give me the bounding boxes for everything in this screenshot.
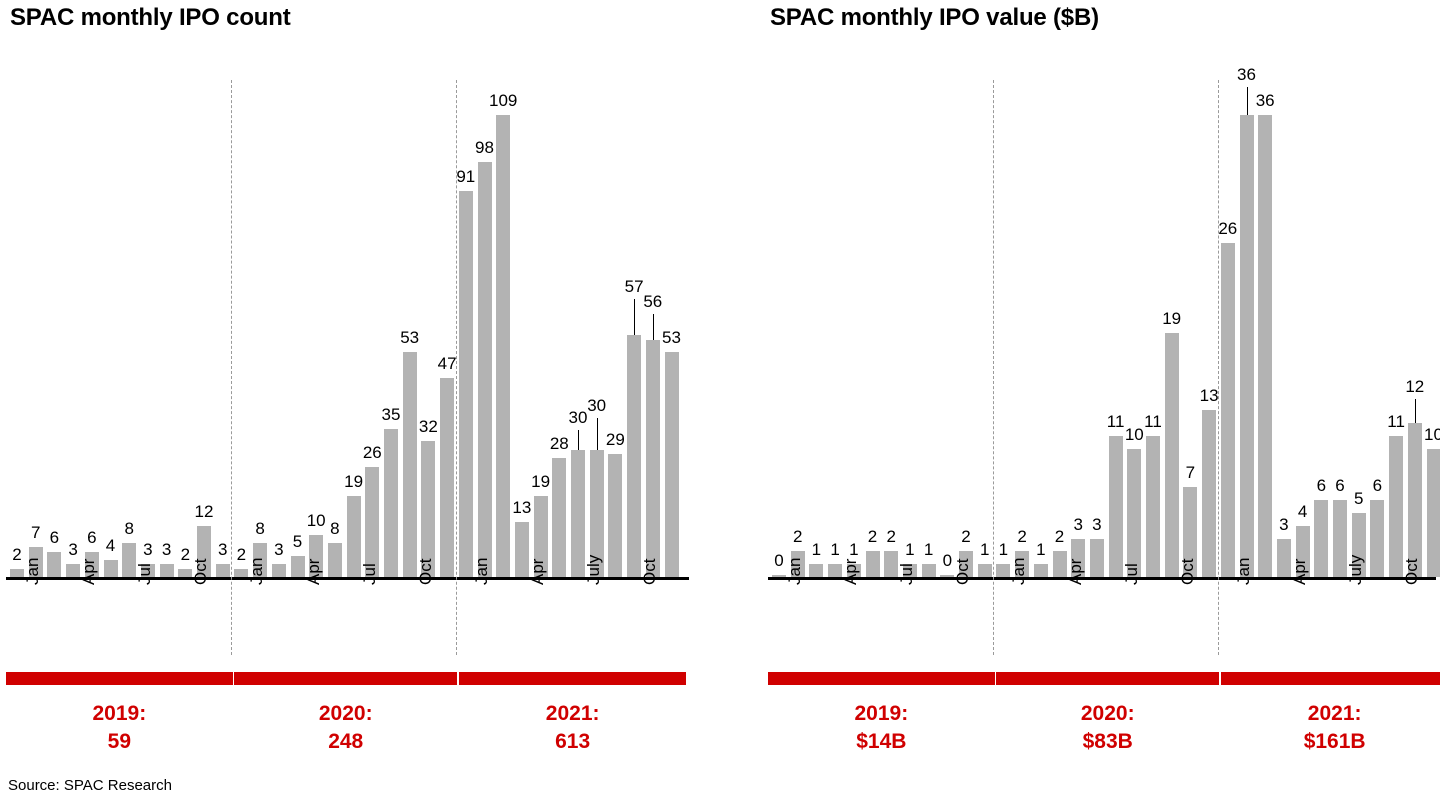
bar xyxy=(1109,436,1123,577)
bar-value-label: 36 xyxy=(1230,65,1264,85)
bar-value-label: 56 xyxy=(636,292,670,312)
bar xyxy=(421,441,435,577)
bar xyxy=(1314,500,1328,577)
bar xyxy=(571,450,585,577)
year-range-bar xyxy=(6,672,233,685)
x-tick-label: Oct xyxy=(416,559,436,585)
bar xyxy=(1427,449,1440,577)
bar xyxy=(1221,243,1235,577)
label-leader-line xyxy=(578,430,579,450)
bar xyxy=(978,564,992,577)
year-summary-label: 2019: xyxy=(768,700,995,728)
x-tick-label: July xyxy=(1346,555,1366,585)
x-tick-label: Apr xyxy=(1066,559,1086,585)
year-summary-label: 2020: xyxy=(234,700,457,728)
bar xyxy=(1408,423,1422,577)
bar xyxy=(608,454,622,577)
x-tick-label: Jan xyxy=(23,558,43,585)
bar xyxy=(1333,500,1347,577)
bar xyxy=(384,429,398,577)
bar xyxy=(1389,436,1403,577)
x-tick-label: Jul xyxy=(897,563,917,585)
x-tick-label: Jan xyxy=(472,558,492,585)
bar xyxy=(459,191,473,577)
x-tick-label: Oct xyxy=(640,559,660,585)
bar xyxy=(1146,436,1160,577)
x-tick-label: Jul xyxy=(1122,563,1142,585)
bar-value-label: 12 xyxy=(187,502,221,522)
year-separator xyxy=(993,80,994,655)
source-note: Source: SPAC Research xyxy=(8,777,172,794)
bar xyxy=(809,564,823,577)
year-separator xyxy=(1218,80,1219,655)
year-range-bar xyxy=(996,672,1219,685)
x-tick-label: Apr xyxy=(1290,559,1310,585)
year-summary-label: 2019: xyxy=(6,700,233,728)
year-summary: 2021:$161B xyxy=(1221,700,1440,757)
year-summary-label: 2020: xyxy=(996,700,1219,728)
bar xyxy=(1165,333,1179,577)
x-tick-label: Apr xyxy=(528,559,548,585)
year-summary-total: 613 xyxy=(459,728,687,756)
x-tick-label: July xyxy=(584,555,604,585)
x-tick-label: Apr xyxy=(841,559,861,585)
bar xyxy=(328,543,342,577)
year-summary: 2019:59 xyxy=(6,700,233,757)
x-axis-line xyxy=(768,577,1436,580)
year-summary: 2021:613 xyxy=(459,700,687,757)
bar xyxy=(216,564,230,577)
year-summary-total: 59 xyxy=(6,728,233,756)
bar xyxy=(1127,449,1141,577)
bar-value-label: 12 xyxy=(1398,377,1432,397)
bar xyxy=(828,564,842,577)
bar xyxy=(160,564,174,577)
year-range-bar xyxy=(234,672,457,685)
bar-value-label: 8 xyxy=(243,519,277,539)
year-summary: 2020:248 xyxy=(234,700,457,757)
bar-value-label: 109 xyxy=(486,91,520,111)
bar-value-label: 19 xyxy=(1155,309,1189,329)
bar xyxy=(365,467,379,577)
year-summary-label: 2021: xyxy=(459,700,687,728)
bar-value-label: 53 xyxy=(393,328,427,348)
x-tick-label: Jan xyxy=(785,558,805,585)
year-summary-total: 248 xyxy=(234,728,457,756)
bar xyxy=(291,556,305,577)
year-summary-total: $161B xyxy=(1221,728,1440,756)
chart-panel-value: SPAC monthly IPO value ($B) 021112211021… xyxy=(760,0,1440,810)
bar-value-label: 36 xyxy=(1248,91,1282,111)
year-summary-total: $14B xyxy=(768,728,995,756)
bar xyxy=(478,162,492,577)
plot-area-value: 0211122110211212331110111971326363634665… xyxy=(760,0,1440,810)
x-tick-label: Jul xyxy=(360,563,380,585)
bar xyxy=(104,560,118,577)
year-summary-total: $83B xyxy=(996,728,1219,756)
bar-value-label: 8 xyxy=(112,519,146,539)
plot-area-count: 2763648332123283510819263553324791981091… xyxy=(0,0,720,810)
year-summary-label: 2021: xyxy=(1221,700,1440,728)
bar xyxy=(552,458,566,577)
x-tick-label: Oct xyxy=(1402,559,1422,585)
bar xyxy=(347,496,361,577)
chart-panel-count: SPAC monthly IPO count 27636483321232835… xyxy=(0,0,720,810)
bar xyxy=(272,564,286,577)
year-range-bar xyxy=(768,672,995,685)
x-tick-label: Apr xyxy=(79,559,99,585)
x-tick-label: Oct xyxy=(1178,559,1198,585)
year-summary: 2019:$14B xyxy=(768,700,995,757)
bar xyxy=(440,378,454,577)
year-separator xyxy=(456,80,457,655)
year-separator xyxy=(231,80,232,655)
bar xyxy=(1090,539,1104,578)
year-range-bar xyxy=(459,672,687,685)
bar-value-label: 10 xyxy=(1417,425,1440,445)
bar xyxy=(866,551,880,577)
bar-value-label: 53 xyxy=(655,328,689,348)
bar xyxy=(1258,115,1272,577)
bar xyxy=(1370,500,1384,577)
bar xyxy=(1053,551,1067,577)
x-tick-label: Jan xyxy=(1234,558,1254,585)
x-tick-label: Oct xyxy=(953,559,973,585)
bar xyxy=(403,352,417,577)
bar xyxy=(1240,115,1254,577)
year-range-bar xyxy=(1221,672,1440,685)
x-tick-label: Apr xyxy=(304,559,324,585)
bar xyxy=(10,569,24,577)
bar xyxy=(1277,539,1291,578)
label-leader-line xyxy=(1415,399,1416,423)
x-tick-label: Oct xyxy=(191,559,211,585)
bar-value-label: 30 xyxy=(580,396,614,416)
x-tick-label: Jan xyxy=(247,558,267,585)
x-tick-label: Jan xyxy=(1009,558,1029,585)
bar xyxy=(66,564,80,577)
x-tick-label: Jul xyxy=(135,563,155,585)
bar xyxy=(646,340,660,577)
bar xyxy=(627,335,641,577)
bar xyxy=(1202,410,1216,577)
bar xyxy=(515,522,529,577)
year-summary: 2020:$83B xyxy=(996,700,1219,757)
bar xyxy=(665,352,679,577)
bar xyxy=(1034,564,1048,577)
